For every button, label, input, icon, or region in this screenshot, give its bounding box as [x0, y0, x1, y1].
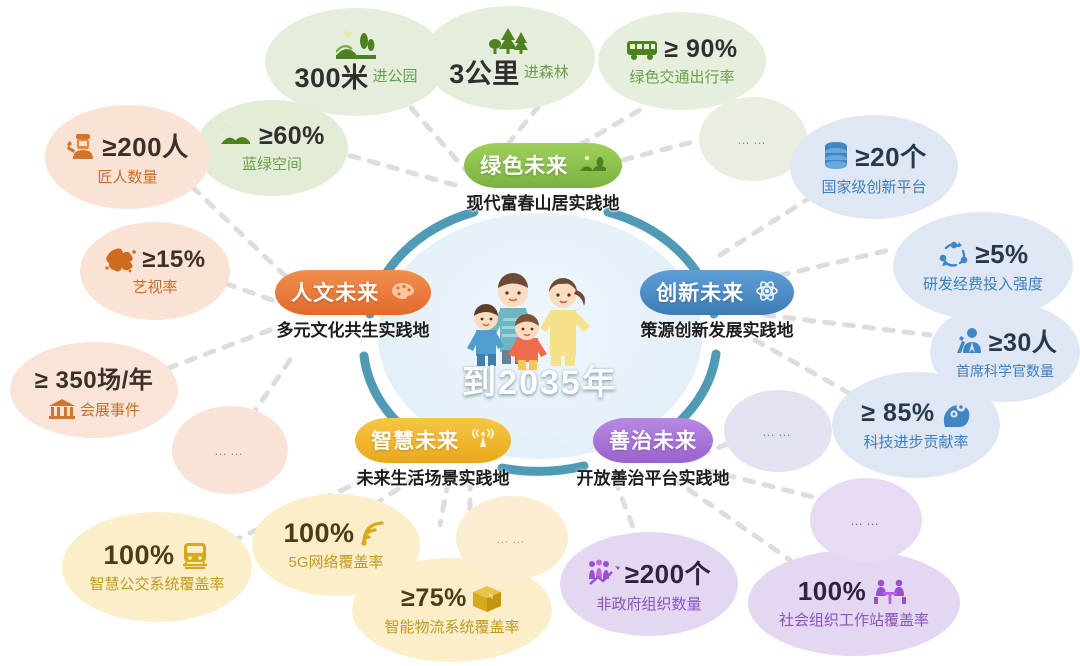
metric-logistics-value: ≥75%: [401, 584, 467, 613]
metric-bubble-green-transport[interactable]: ≥ 90% 绿色交通出行率: [598, 12, 766, 110]
blue-green-space-icon: [219, 124, 255, 150]
bus-icon: [626, 39, 660, 61]
metric-300m-unit: 进公园: [373, 65, 418, 86]
center-ellipsis: ……: [762, 425, 794, 438]
pillar-smart-desc: 未来生活场景实践地: [308, 464, 558, 489]
metric-bubble-smart-more[interactable]: ……: [456, 496, 568, 580]
metric-rd-intensity-label: 研发经费投入强度: [923, 273, 1043, 294]
metric-bubble-social-station[interactable]: 100% 社会组织工作站覆盖率: [748, 550, 960, 656]
governance-ellipsis: ……: [850, 514, 882, 527]
metric-3km-unit: 进森林: [524, 61, 569, 82]
metric-ngo-count-value: ≥200个: [625, 554, 711, 591]
metric-tech-contribution-value: ≥ 85%: [861, 399, 934, 428]
pillar-culture-desc: 多元文化共生实践地: [228, 316, 478, 341]
metric-expo-events-label: 会展事件: [80, 399, 140, 420]
metric-national-platform-label: 国家级创新平台: [821, 176, 926, 197]
metric-rd-intensity-value: ≥5%: [975, 239, 1028, 270]
pillar-smart-title: 智慧未来: [371, 430, 459, 453]
metric-logistics-label: 智能物流系统覆盖率: [384, 616, 519, 637]
target-year-label: 到2035年: [378, 355, 702, 404]
metric-craftsmen-label: 匠人数量: [97, 166, 157, 187]
pillar-innovation-desc: 策源创新发展实践地: [592, 316, 842, 341]
wifi-icon: [359, 521, 389, 547]
pillar-innovation-title-pill[interactable]: 创新未来: [640, 270, 794, 315]
pillar-culture[interactable]: 人文未来 多元文化共生实践地: [228, 270, 478, 341]
museum-icon: [48, 398, 76, 420]
metric-craftsmen-value: ≥200人: [102, 127, 188, 164]
metric-art-rate-label: 艺视率: [132, 276, 177, 297]
palette-icon: [391, 282, 415, 305]
pillar-innovation[interactable]: 创新未来 策源创新发展实践地: [592, 270, 842, 341]
infographic-canvas: 到2035年 绿色未来 现代富春山居实践地 创新未来 策源创新发展实践地 人文未…: [0, 0, 1080, 666]
pillar-smart[interactable]: 智慧未来 未来生活场景实践地: [308, 418, 558, 489]
metric-bubble-governance-more[interactable]: ……: [810, 478, 922, 562]
atom-icon: [756, 283, 778, 306]
signal-tower-icon: [471, 431, 495, 454]
pillar-smart-title-pill[interactable]: 智慧未来: [355, 418, 511, 463]
pillar-governance-title: 善治未来: [609, 430, 697, 453]
park-landscape-icon: [580, 155, 606, 178]
pillar-governance-title-pill[interactable]: 善治未来: [593, 418, 713, 463]
metric-art-rate-value: ≥15%: [142, 246, 205, 274]
metric-bubble-expo-events[interactable]: ≥ 350场/年 会展事件: [10, 342, 178, 438]
metric-300m-value: 300米: [294, 56, 368, 95]
database-icon: [821, 141, 851, 171]
brain-gear-icon: [939, 399, 971, 429]
metric-chief-scientist-value: ≥30人: [989, 323, 1058, 359]
metric-blue-green-space-label: 蓝绿空间: [242, 153, 302, 174]
metric-bubble-culture-more[interactable]: ……: [172, 406, 288, 494]
metric-expo-events-value: ≥ 350场/年: [35, 360, 154, 395]
metric-3km-value: 3公里: [449, 52, 520, 91]
metric-smart-bus-value: 100%: [103, 540, 174, 571]
metric-bubble-center-more[interactable]: ……: [724, 390, 832, 472]
metric-bubble-national-platform[interactable]: ≥20个 国家级创新平台: [790, 115, 958, 219]
metric-smart-bus-label: 智慧公交系统覆盖率: [89, 573, 224, 594]
metric-social-station-value: 100%: [798, 576, 867, 607]
pillar-green-desc: 现代富春山居实践地: [398, 189, 688, 214]
ngo-growth-icon: [587, 559, 621, 587]
metric-green-transport-label: 绿色交通出行率: [629, 66, 734, 87]
metric-5g-value: 100%: [283, 518, 354, 549]
culture-ellipsis: ……: [214, 444, 246, 457]
metric-blue-green-space-value: ≥60%: [259, 122, 325, 151]
scientist-icon: [953, 327, 985, 355]
package-icon: [471, 584, 503, 614]
metric-social-station-label: 社会组织工作站覆盖率: [779, 609, 929, 630]
green-ellipsis: ……: [737, 133, 769, 146]
pillar-innovation-title: 创新未来: [656, 282, 744, 305]
paint-splash-icon: [104, 246, 138, 274]
metric-bubble-art-rate[interactable]: ≥15% 艺视率: [80, 222, 230, 320]
metric-national-platform-value: ≥20个: [855, 137, 926, 174]
meeting-table-icon: [870, 578, 910, 606]
train-icon: [179, 541, 211, 571]
metric-bubble-300m[interactable]: 300米 进公园: [265, 8, 447, 116]
smart-ellipsis: ……: [496, 532, 528, 545]
metric-tech-contribution-label: 科技进步贡献率: [863, 431, 968, 452]
pillar-green-title: 绿色未来: [480, 155, 568, 178]
pillar-green[interactable]: 绿色未来 现代富春山居实践地: [398, 143, 688, 214]
metric-green-transport-value: ≥ 90%: [664, 35, 737, 64]
metric-bubble-tech-contribution[interactable]: ≥ 85% 科技进步贡献率: [832, 372, 1000, 478]
metric-bubble-ngo-count[interactable]: ≥200个 非政府组织数量: [560, 532, 738, 636]
metric-bubble-smart-bus[interactable]: 100% 智慧公交系统覆盖率: [62, 512, 252, 622]
metric-chief-scientist-label: 首席科学官数量: [956, 361, 1054, 381]
pillar-green-title-pill[interactable]: 绿色未来: [464, 143, 622, 188]
metric-ngo-count-label: 非政府组织数量: [596, 593, 701, 614]
rd-cycle-icon: [937, 239, 971, 271]
metric-5g-label: 5G网络覆盖率: [288, 551, 383, 572]
pillar-governance-desc: 开放善治平台实践地: [528, 464, 778, 489]
pillar-culture-title-pill[interactable]: 人文未来: [275, 270, 431, 315]
craftsman-icon: [66, 132, 98, 160]
metric-bubble-craftsmen[interactable]: ≥200人 匠人数量: [45, 105, 210, 209]
metric-bubble-blue-green-space[interactable]: ≥60% 蓝绿空间: [196, 100, 348, 196]
metric-bubble-3km[interactable]: 3公里 进森林: [423, 6, 595, 110]
pillar-culture-title: 人文未来: [291, 282, 379, 305]
